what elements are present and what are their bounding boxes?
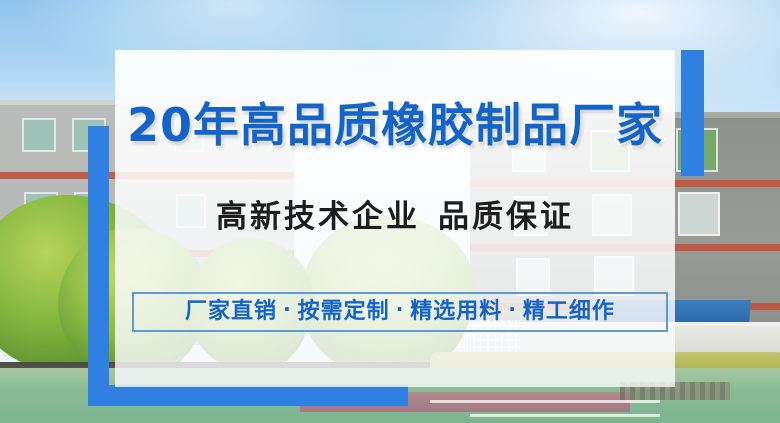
accent-bar-bottom xyxy=(88,385,408,406)
accent-bar-right xyxy=(681,50,704,176)
tagline-item-4: 精工细作 xyxy=(523,299,615,324)
right-building-window xyxy=(678,192,720,236)
tagline-item-3: 精选用料 xyxy=(410,299,502,324)
tagline-separator-icon: · xyxy=(508,299,517,319)
tagline-separator-icon: · xyxy=(396,299,405,319)
court-line xyxy=(470,414,660,417)
tagline-item-1: 厂家直销 xyxy=(185,299,277,324)
subheadline: 高新技术企业品质保证 xyxy=(115,202,675,233)
subheadline-part-2: 品质保证 xyxy=(438,199,574,235)
subheadline-part-1: 高新技术企业 xyxy=(216,199,420,235)
left-building-window xyxy=(22,118,56,152)
accent-bar-left xyxy=(88,126,109,406)
promo-banner: 20年高品质橡胶制品厂家 高新技术企业品质保证 厂家直销·按需定制·精选用料·精… xyxy=(0,0,780,423)
headline: 20年高品质橡胶制品厂家 xyxy=(115,102,675,148)
court-line xyxy=(430,400,660,403)
tagline-separator-icon: · xyxy=(283,299,292,319)
tagline-item-2: 按需定制 xyxy=(298,299,390,324)
tagline: 厂家直销·按需定制·精选用料·精工细作 xyxy=(185,301,615,323)
tagline-box: 厂家直销·按需定制·精选用料·精工细作 xyxy=(132,292,668,332)
content-area: 20年高品质橡胶制品厂家 高新技术企业品质保证 厂家直销·按需定制·精选用料·精… xyxy=(115,50,675,387)
